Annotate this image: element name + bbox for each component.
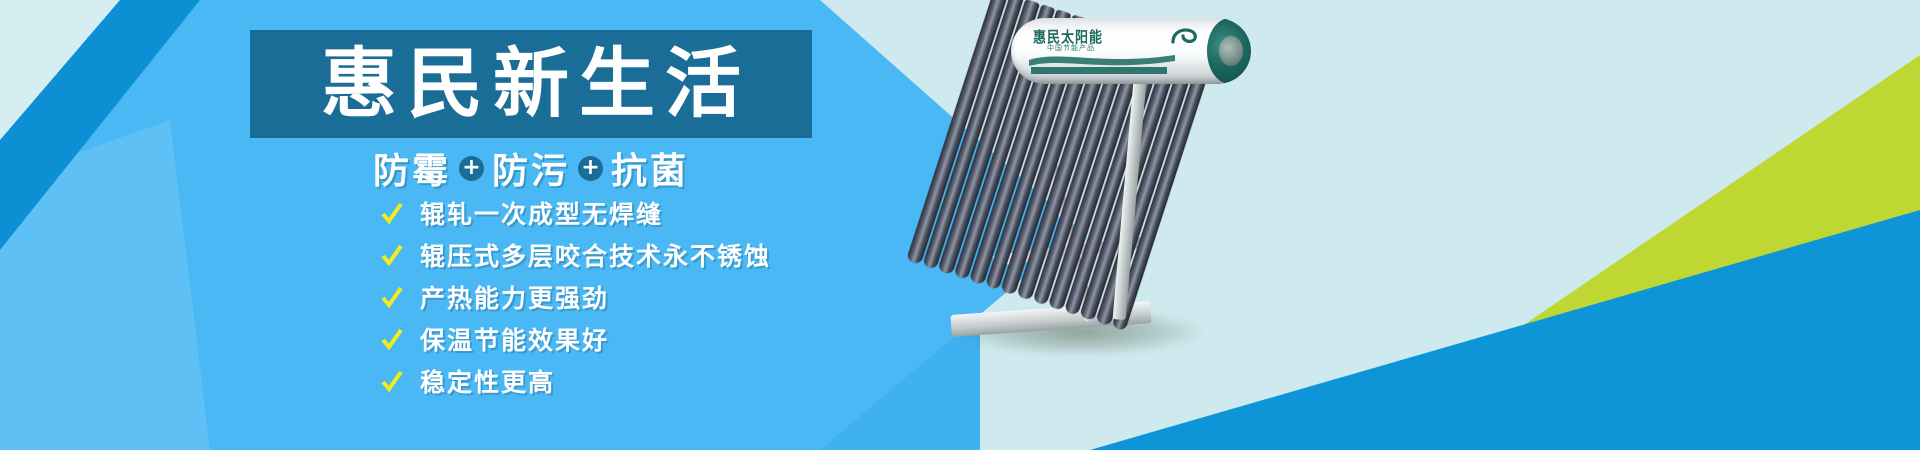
list-item: 产热能力更强劲 xyxy=(380,280,771,314)
list-item: 辊轧一次成型无焊缝 xyxy=(380,196,771,230)
plus-icon-1: + xyxy=(459,156,484,181)
storage-tank: 惠民太阳能 中国节能产品 xyxy=(1011,18,1251,84)
check-icon xyxy=(380,243,404,267)
feature-list: 辊轧一次成型无焊缝 辊压式多层咬合技术永不锈蚀 产热能力更强劲 保温节能效果好 xyxy=(380,196,771,398)
subtitle-row: 防霉 + 防污 + 抗菌 xyxy=(250,142,812,194)
product-image-solar-water-heater: 惠民太阳能 中国节能产品 xyxy=(945,8,1275,378)
list-item: 稳定性更高 xyxy=(380,364,771,398)
check-icon xyxy=(380,201,404,225)
feature-label: 辊压式多层咬合技术永不锈蚀 xyxy=(420,237,771,273)
check-icon xyxy=(380,285,404,309)
promotional-banner: 惠民新生活 防霉 + 防污 + 抗菌 辊轧一次成型无焊缝 辊压式多层咬合技术永不… xyxy=(0,0,1920,450)
feature-label: 保温节能效果好 xyxy=(420,321,609,357)
plus-icon-2: + xyxy=(578,156,603,181)
tank-end-cap-detail xyxy=(1219,36,1243,66)
feature-label: 稳定性更高 xyxy=(420,363,555,399)
wave-graphic-icon xyxy=(1027,52,1177,76)
headline-box: 惠民新生活 xyxy=(250,30,812,138)
check-icon xyxy=(380,327,404,351)
feature-label: 辊轧一次成型无焊缝 xyxy=(420,195,663,231)
subtitle-word-2: 防污 xyxy=(492,142,570,194)
list-item: 保温节能效果好 xyxy=(380,322,771,356)
check-icon xyxy=(380,369,404,393)
brand-logo-icon xyxy=(1169,26,1199,52)
subtitle-word-3: 抗菌 xyxy=(611,142,689,194)
page-title: 惠民新生活 xyxy=(311,46,751,122)
feature-label: 产热能力更强劲 xyxy=(420,279,609,315)
subtitle-word-1: 防霉 xyxy=(373,142,451,194)
list-item: 辊压式多层咬合技术永不锈蚀 xyxy=(380,238,771,272)
